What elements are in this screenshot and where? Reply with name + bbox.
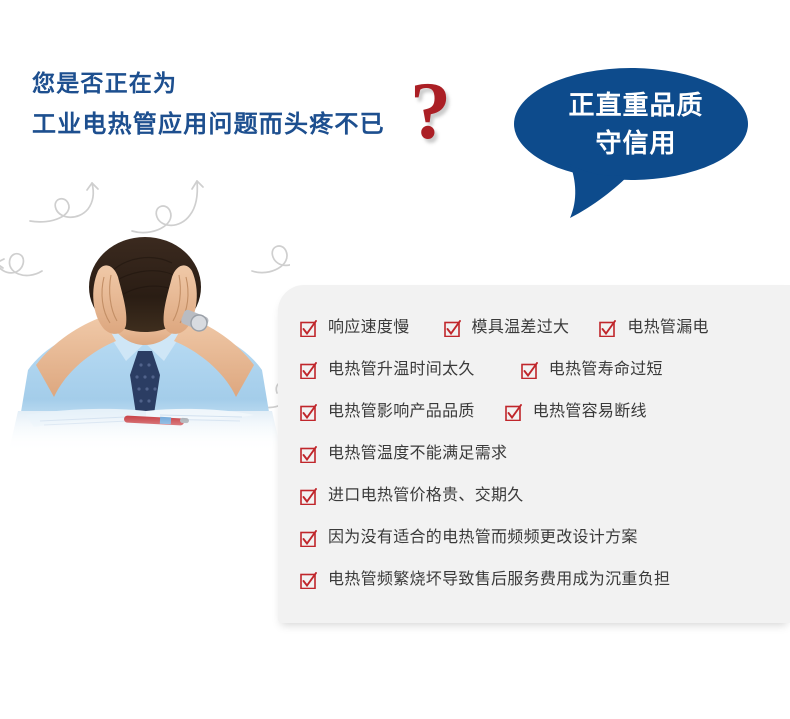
headline-line-1: 您是否正在为	[32, 62, 432, 104]
slogan-line-2: 守信用	[512, 124, 760, 162]
checkbox-checked-icon[interactable]	[300, 362, 317, 379]
checkbox-checked-icon[interactable]	[300, 320, 317, 337]
list-item-label: 电热管影响产品品质	[328, 403, 475, 421]
page-title: 您是否正在为 工业电热管应用问题而头疼不已	[32, 62, 432, 146]
question-mark-icon: ?	[410, 70, 451, 152]
checkbox-checked-icon[interactable]	[505, 404, 522, 421]
slogan-speech-bubble: 正直重品质 守信用	[512, 66, 760, 236]
stressed-businessman-photo	[0, 165, 290, 455]
list-item[interactable]: 电热管影响产品品质	[300, 403, 475, 421]
list-item[interactable]: 电热管升温时间太久	[300, 361, 475, 379]
list-item-label: 模具温差过大	[472, 319, 570, 337]
list-item-label: 电热管寿命过短	[549, 361, 663, 379]
slogan-line-1: 正直重品质	[512, 86, 760, 124]
checklist-row: 电热管升温时间太久 电热管寿命过短	[300, 349, 790, 391]
checkbox-checked-icon[interactable]	[300, 446, 317, 463]
list-item-label: 电热管漏电	[627, 319, 709, 337]
slogan-text: 正直重品质 守信用	[512, 86, 760, 162]
list-item[interactable]: 电热管寿命过短	[521, 361, 663, 379]
checklist-row: 电热管温度不能满足需求	[300, 433, 790, 475]
pain-points-panel: 响应速度慢 模具温差过大	[278, 285, 790, 623]
list-item[interactable]: 电热管频繁烧坏导致售后服务费用成为沉重负担	[300, 571, 670, 589]
checklist-row: 响应速度慢 模具温差过大	[300, 307, 790, 349]
checkbox-checked-icon[interactable]	[444, 320, 461, 337]
checkbox-checked-icon[interactable]	[300, 488, 317, 505]
list-item-label: 电热管频繁烧坏导致售后服务费用成为沉重负担	[328, 571, 670, 589]
list-item-label: 电热管容易断线	[533, 403, 647, 421]
checkbox-checked-icon[interactable]	[300, 530, 317, 547]
checkbox-checked-icon[interactable]	[300, 404, 317, 421]
checklist-row: 因为没有适合的电热管而频频更改设计方案	[300, 517, 790, 559]
checklist-row: 进口电热管价格贵、交期久	[300, 475, 790, 517]
promo-banner: 您是否正在为 工业电热管应用问题而头疼不已 ? 正直重品质 守信用	[0, 0, 790, 719]
list-item[interactable]: 响应速度慢	[300, 319, 410, 337]
list-item[interactable]: 因为没有适合的电热管而频频更改设计方案	[300, 529, 638, 547]
checkbox-checked-icon[interactable]	[521, 362, 538, 379]
checkbox-checked-icon[interactable]	[300, 572, 317, 589]
list-item-label: 进口电热管价格贵、交期久	[328, 487, 524, 505]
list-item[interactable]: 电热管容易断线	[505, 403, 647, 421]
list-item-label: 响应速度慢	[328, 319, 410, 337]
list-item[interactable]: 进口电热管价格贵、交期久	[300, 487, 524, 505]
headline-line-2: 工业电热管应用问题而头疼不已	[32, 104, 432, 146]
list-item-label: 因为没有适合的电热管而频频更改设计方案	[328, 529, 638, 547]
photo-bottom-fade	[0, 411, 290, 455]
list-item[interactable]: 模具温差过大	[444, 319, 570, 337]
checklist-row: 电热管影响产品品质 电热管容易断线	[300, 391, 790, 433]
stressed-businessman-illustration	[0, 165, 290, 455]
list-item-label: 电热管温度不能满足需求	[328, 445, 507, 463]
list-item[interactable]: 电热管漏电	[599, 319, 709, 337]
checklist-row: 电热管频繁烧坏导致售后服务费用成为沉重负担	[300, 559, 790, 601]
checkbox-checked-icon[interactable]	[599, 320, 616, 337]
list-item[interactable]: 电热管温度不能满足需求	[300, 445, 507, 463]
list-item-label: 电热管升温时间太久	[328, 361, 475, 379]
